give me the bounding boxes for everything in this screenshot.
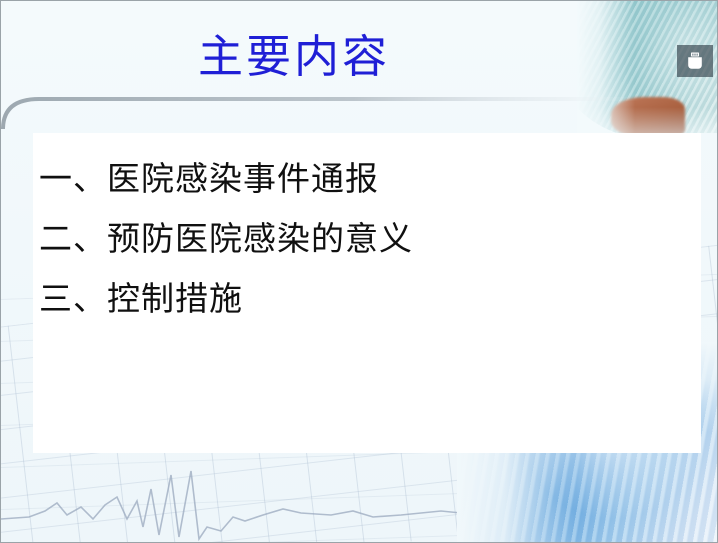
content-card: 一、医院感染事件通报 二、预防医院感染的意义 三、控制措施 (33, 133, 701, 453)
slide-canvas: 主要内容 一、医院感染事件通报 二、预防医院感染的意义 三、控制措施 (0, 0, 718, 543)
list-item: 一、医院感染事件通报 (39, 149, 701, 209)
outline-list: 一、医院感染事件通报 二、预防医院感染的意义 三、控制措施 (33, 133, 701, 329)
decorative-swoosh (1, 93, 641, 129)
list-item: 三、控制措施 (39, 269, 701, 329)
list-item: 二、预防医院感染的意义 (39, 209, 701, 269)
page-title: 主要内容 (1, 35, 717, 80)
